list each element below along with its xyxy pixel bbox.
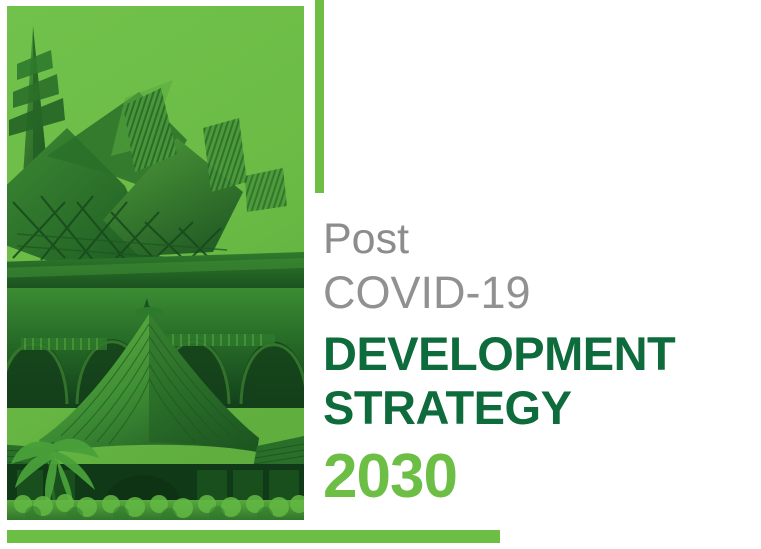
cover-title-block: Post COVID-19 DEVELOPMENT STRATEGY 2030 <box>323 213 753 512</box>
title-year: 2030 <box>323 442 753 512</box>
title-heading-line-2: STRATEGY <box>323 380 753 436</box>
cover-photo <box>7 6 304 520</box>
cover-photo-illustration <box>7 6 304 520</box>
report-cover: Post COVID-19 DEVELOPMENT STRATEGY 2030 <box>0 0 761 549</box>
title-eyebrow: Post <box>323 213 753 265</box>
title-heading-line-1: DEVELOPMENT <box>323 327 753 380</box>
bottom-accent-bar <box>7 530 500 543</box>
title-subject: COVID-19 <box>323 265 753 321</box>
vertical-accent-rule <box>315 0 324 193</box>
